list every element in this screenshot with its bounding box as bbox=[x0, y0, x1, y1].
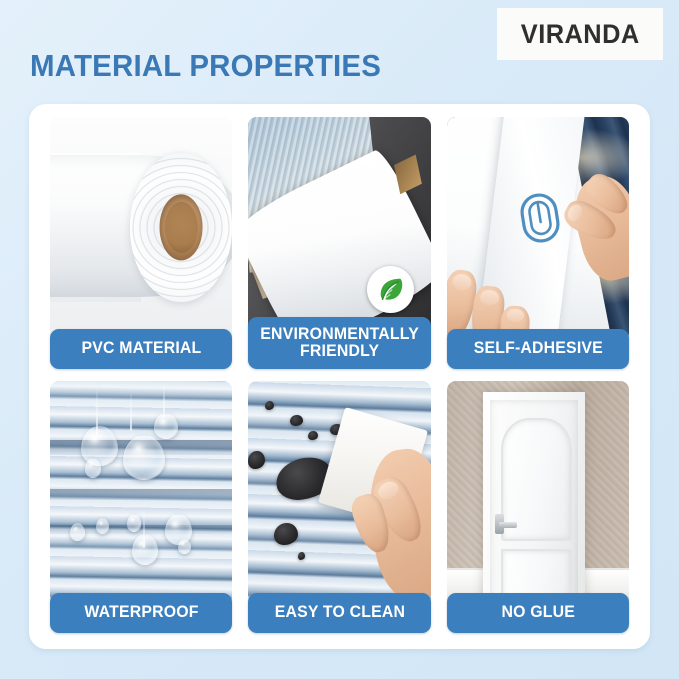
easy-to-clean-label: EASY TO CLEAN bbox=[274, 604, 404, 621]
self-adhesive-image bbox=[447, 117, 629, 342]
leaf-icon bbox=[376, 274, 406, 304]
infographic-page: VIRANDA MATERIAL PROPERTIES PVC MATERIAL bbox=[0, 0, 679, 679]
eco-badge bbox=[367, 266, 414, 313]
pvc-material-label: PVC MATERIAL bbox=[81, 340, 201, 357]
no-glue-banner: NO GLUE bbox=[447, 593, 629, 633]
feature-card-no-glue: NO GLUE bbox=[447, 381, 629, 633]
paperclip-badge bbox=[514, 188, 566, 248]
waterproof-banner: WATERPROOF bbox=[50, 593, 232, 633]
roll-end-icon bbox=[130, 153, 232, 302]
feature-card-pvc-material: PVC MATERIAL bbox=[50, 117, 232, 369]
brand-logo: VIRANDA bbox=[497, 8, 663, 60]
environmentally-friendly-banner: ENVIRONMENTALLY FRIENDLY bbox=[248, 317, 430, 369]
feature-card-easy-to-clean: EASY TO CLEAN bbox=[248, 381, 430, 633]
easy-to-clean-image bbox=[248, 381, 430, 606]
waterproof-image bbox=[50, 381, 232, 606]
feature-card-waterproof: WATERPROOF bbox=[50, 381, 232, 633]
easy-to-clean-banner: EASY TO CLEAN bbox=[248, 593, 430, 633]
no-glue-label: NO GLUE bbox=[501, 604, 575, 621]
feature-grid: PVC MATERIAL bbox=[50, 117, 629, 633]
page-title: MATERIAL PROPERTIES bbox=[30, 48, 381, 84]
pvc-material-image bbox=[50, 117, 232, 342]
brand-name: VIRANDA bbox=[521, 19, 640, 50]
environmentally-friendly-label: ENVIRONMENTALLY FRIENDLY bbox=[260, 326, 419, 361]
door-icon bbox=[490, 400, 578, 606]
environmentally-friendly-image bbox=[248, 117, 430, 342]
no-glue-image bbox=[447, 381, 629, 606]
feature-card-environmentally-friendly: ENVIRONMENTALLY FRIENDLY bbox=[248, 117, 430, 369]
paperclip-icon bbox=[514, 188, 566, 248]
feature-card-self-adhesive: SELF-ADHESIVE bbox=[447, 117, 629, 369]
pvc-material-banner: PVC MATERIAL bbox=[50, 329, 232, 369]
waterproof-label: WATERPROOF bbox=[84, 604, 198, 621]
self-adhesive-banner: SELF-ADHESIVE bbox=[447, 329, 629, 369]
door-frame bbox=[483, 392, 585, 606]
cards-panel: PVC MATERIAL bbox=[29, 104, 650, 649]
self-adhesive-label: SELF-ADHESIVE bbox=[473, 340, 602, 357]
